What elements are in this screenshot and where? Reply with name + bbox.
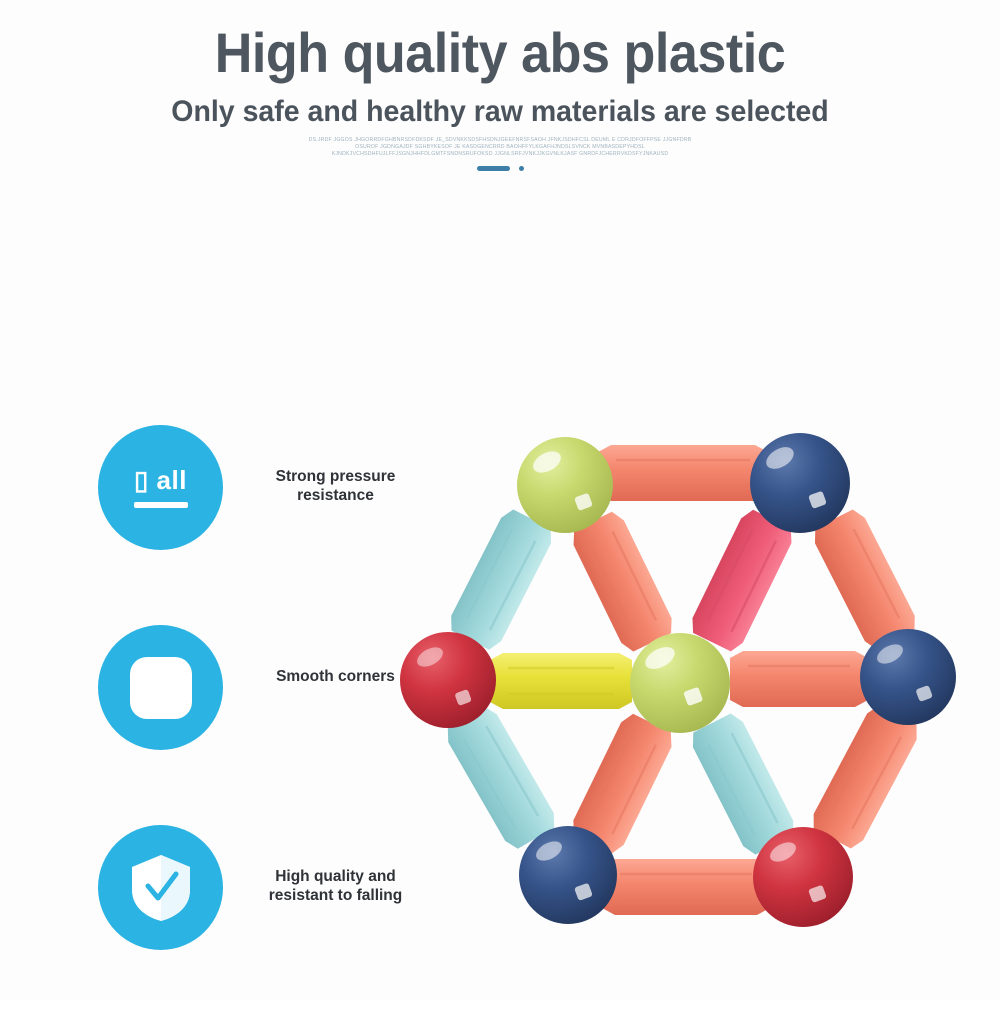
rod-upper-left-edge: [445, 506, 557, 653]
header: High quality abs plastic Only safe and h…: [0, 0, 1000, 171]
rod-spoke-upper-left: [568, 509, 678, 655]
feature-icon-circle: [98, 825, 223, 950]
ball-bottom-left: [519, 826, 617, 924]
micro-text-line: OSUROF JGDNGAJDF SGHBYKESOF JE KASDGENCR…: [0, 144, 1000, 151]
magnetic-sticks-and-balls-toy: [390, 415, 980, 960]
rod-spoke-right: [730, 651, 868, 707]
feature-icon-circle: [98, 625, 223, 750]
weight-load-icon-label: ▯ all: [134, 467, 187, 493]
feature-icon-circle: ▯ all: [98, 425, 223, 550]
micro-description-text: DS.JRDF JGGOS JHGORRDFGHBNRSDFDKSDF JE_S…: [0, 137, 1000, 158]
ball-mid-left: [400, 632, 496, 728]
product-feature-banner: High quality abs plastic Only safe and h…: [0, 0, 1000, 1000]
micro-text-line: DS.JRDF JGGOS JHGORRDFGHBNRSDFDKSDF JE_S…: [0, 137, 1000, 144]
ball-bottom-right: [753, 827, 853, 927]
feature-list: ▯ all Strong pressure resistance Smooth …: [98, 425, 428, 1025]
shield-check-icon: [128, 852, 194, 924]
rod-spoke-left: [490, 653, 632, 709]
ball-top-right: [750, 433, 850, 533]
micro-text-line: KJNDKJVCHSDHFUJLFFJSGNJHHFDLGMTFSNDNSRUF…: [0, 151, 1000, 158]
ball-top-left: [517, 437, 613, 533]
rod-bottom-edge: [602, 859, 770, 915]
page-subtitle: Only safe and healthy raw materials are …: [25, 95, 975, 128]
pagination-dot[interactable]: [519, 166, 524, 171]
ball-mid-right: [860, 629, 956, 725]
feature-item-drop-resistance[interactable]: High quality and resistant to falling: [98, 825, 428, 1025]
weight-load-icon-bar: [134, 502, 188, 508]
pagination-dot-active[interactable]: [477, 166, 510, 171]
weight-load-icon: ▯ all: [134, 467, 188, 508]
page-title: High quality abs plastic: [35, 24, 965, 83]
feature-item-pressure-resistance[interactable]: ▯ all Strong pressure resistance: [98, 425, 428, 625]
pagination-indicator[interactable]: [0, 166, 1000, 171]
feature-item-smooth-corners[interactable]: Smooth corners: [98, 625, 428, 825]
toy-illustration: [390, 415, 980, 960]
rod-top-edge: [598, 445, 768, 501]
toy-balls: [400, 433, 956, 927]
rounded-square-icon: [130, 657, 192, 719]
ball-center-hub: [630, 633, 730, 733]
